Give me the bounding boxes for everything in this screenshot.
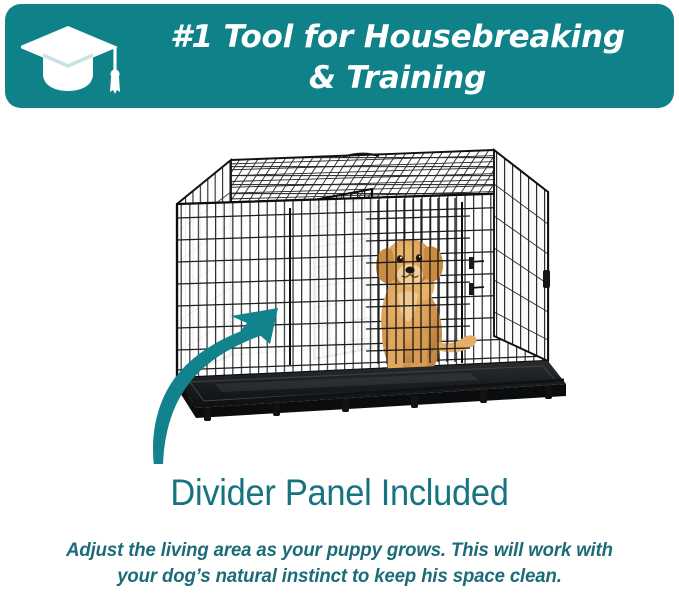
banner-line-2: & Training (309, 58, 486, 99)
page-subcopy: Adjust the living area as your puppy gro… (17, 538, 662, 589)
subcopy-line-2: your dog’s natural instinct to keep his … (17, 564, 662, 590)
promo-banner: #1 Tool for Housebreaking & Training (5, 4, 674, 108)
graduation-cap-icon (21, 22, 131, 96)
subcopy-line-1: Adjust the living area as your puppy gro… (17, 538, 662, 564)
banner-line-1: #1 Tool for Housebreaking (170, 17, 625, 58)
page-headline: Divider Panel Included (24, 474, 655, 511)
banner-text-block: #1 Tool for Housebreaking & Training (135, 14, 660, 102)
side-latch (543, 270, 550, 288)
product-photo (0, 112, 679, 464)
dog-crate-illustration (0, 112, 679, 464)
crate-right-panel (490, 144, 554, 369)
